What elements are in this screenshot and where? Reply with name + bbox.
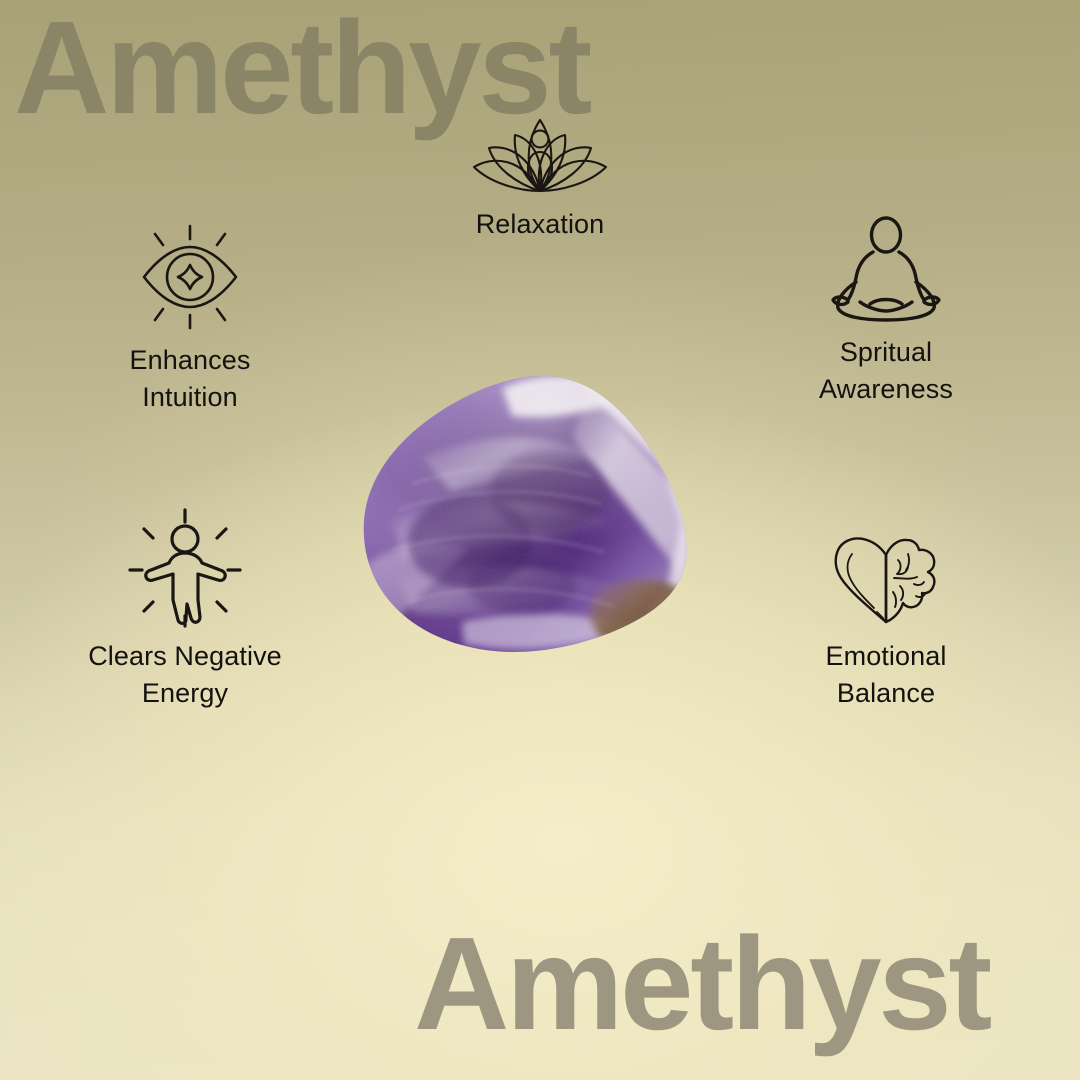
benefit-enhances-intuition: Enhances Intuition <box>30 222 350 417</box>
radiant-person-icon <box>123 508 247 628</box>
heart-brain-icon <box>830 528 942 628</box>
page-title-bottom: Amethyst <box>414 918 989 1050</box>
benefit-spiritual-awareness: Spritual Awareness <box>726 216 1046 409</box>
amethyst-infographic-poster: Amethyst <box>0 0 1080 1080</box>
benefit-label: Emotional Balance <box>826 638 947 713</box>
benefit-label: Enhances Intuition <box>130 342 251 417</box>
benefit-label: Clears Negative Energy <box>88 638 282 713</box>
meditating-person-icon <box>826 216 946 324</box>
benefit-label: Spritual Awareness <box>819 334 953 409</box>
benefit-emotional-balance: Emotional Balance <box>726 528 1046 713</box>
lotus-meditation-icon <box>465 112 615 196</box>
benefit-label: Relaxation <box>476 206 605 243</box>
benefit-clears-negative-energy: Clears Negative Energy <box>25 508 345 713</box>
benefit-relaxation: Relaxation <box>380 112 700 243</box>
third-eye-icon <box>131 222 249 332</box>
amethyst-stone-image <box>352 372 704 660</box>
